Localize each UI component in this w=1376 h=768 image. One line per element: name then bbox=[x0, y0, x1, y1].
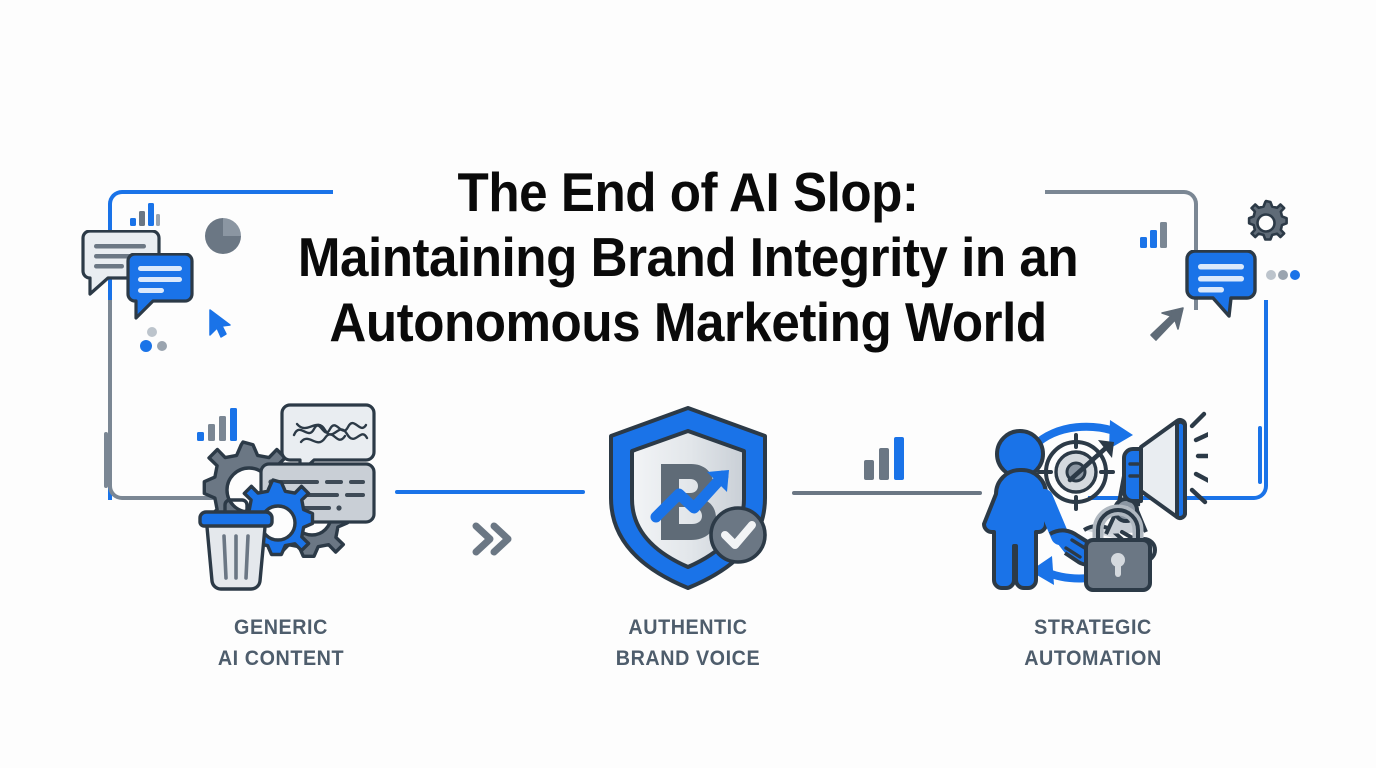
pillar-strategic-automation: STRATEGIC AUTOMATION bbox=[943, 398, 1243, 674]
pie-chart-icon bbox=[203, 216, 243, 261]
megaphone-icon bbox=[1124, 414, 1208, 518]
double-chevron-icon bbox=[470, 520, 516, 563]
pillar-generic-ai-content: GENERIC AI CONTENT bbox=[131, 398, 431, 674]
bar-chart-icon bbox=[1140, 220, 1170, 253]
accent-tick-right bbox=[1258, 426, 1262, 484]
title-line-2: Maintaining Brand Integrity in an bbox=[288, 225, 1088, 290]
pillar-authentic-brand-voice: AUTHENTIC BRAND VOICE bbox=[538, 398, 838, 674]
bar-chart-sub-icon bbox=[197, 408, 237, 441]
pillar-label-strategic-automation: STRATEGIC AUTOMATION bbox=[952, 612, 1234, 674]
pillar-label-line-2: AUTOMATION bbox=[952, 643, 1234, 674]
human-robot-handshake-icon bbox=[943, 398, 1243, 598]
pillar-label-line-2: AI CONTENT bbox=[140, 643, 422, 674]
shield-brand-check-icon bbox=[538, 398, 838, 598]
pillar-label-line-1: AUTHENTIC bbox=[547, 612, 829, 643]
pillar-label-line-1: STRATEGIC bbox=[952, 612, 1234, 643]
dots-icon bbox=[140, 325, 176, 358]
speech-bubble-blue-icon bbox=[124, 253, 196, 330]
pillar-label-authentic-brand-voice: AUTHENTIC BRAND VOICE bbox=[547, 612, 829, 674]
cursor-arrow-icon bbox=[207, 308, 233, 345]
bar-chart-icon bbox=[862, 436, 910, 485]
pillar-label-generic-ai-content: GENERIC AI CONTENT bbox=[140, 612, 422, 674]
accent-tick-left bbox=[104, 432, 108, 488]
dots-icon bbox=[1266, 268, 1300, 287]
infographic-canvas: The End of AI Slop: Maintaining Brand In… bbox=[0, 0, 1376, 768]
pillar-label-line-2: BRAND VOICE bbox=[547, 643, 829, 674]
arrow-up-right-icon bbox=[1145, 302, 1187, 349]
gear-trash-scribble-icon bbox=[131, 398, 431, 598]
speech-bubble-blue-icon bbox=[1183, 250, 1259, 327]
bar-chart-icon bbox=[130, 200, 160, 231]
gear-icon bbox=[1240, 197, 1292, 254]
pillar-label-line-1: GENERIC bbox=[140, 612, 422, 643]
trash-can-icon bbox=[200, 500, 272, 589]
page-title: The End of AI Slop: Maintaining Brand In… bbox=[258, 160, 1118, 355]
title-line-3: Autonomous Marketing World bbox=[288, 290, 1088, 355]
title-line-1: The End of AI Slop: bbox=[288, 160, 1088, 225]
